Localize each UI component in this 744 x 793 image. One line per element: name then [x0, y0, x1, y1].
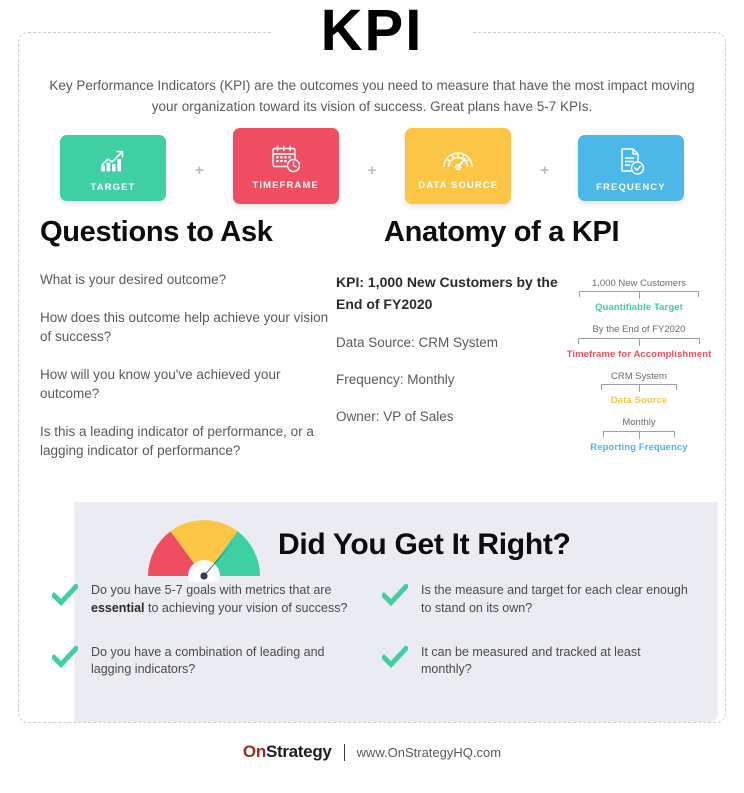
component-card-data-source[interactable]: DATA SOURCE — [405, 128, 511, 204]
bracket-value: CRM System — [555, 371, 723, 382]
component-card-label: FREQUENCY — [596, 182, 666, 193]
anatomy-bracket-group: Monthly Reporting Frequency — [555, 417, 723, 452]
anatomy-line: Data Source: CRM System — [336, 335, 564, 350]
bracket-label: Timeframe for Accomplishment — [555, 349, 723, 360]
footer-divider — [344, 744, 345, 761]
anatomy-bracket-column: 1,000 New Customers Quantifiable Target … — [555, 278, 723, 464]
checklist-item[interactable]: Do you have a combination of leading and… — [52, 644, 382, 680]
component-card-frequency[interactable]: FREQUENCY — [578, 135, 684, 201]
footer: OnStrategy www.OnStrategyHQ.com — [0, 742, 744, 762]
component-card-label: TIMEFRAME — [252, 180, 318, 191]
questions-heading: Questions to Ask — [40, 216, 273, 249]
kpi-components-row: TARGET + — [60, 128, 684, 208]
anatomy-line: Owner: VP of Sales — [336, 409, 564, 424]
checklist-text: Do you have 5-7 goals with metrics that … — [91, 582, 364, 618]
checklist-items: Do you have 5-7 goals with metrics that … — [52, 582, 712, 705]
component-card-target[interactable]: TARGET — [60, 135, 166, 201]
bracket-icon — [578, 338, 700, 347]
plus-separator-3: + — [540, 162, 549, 179]
checklist-text: Do you have a combination of leading and… — [91, 644, 364, 680]
component-card-timeframe[interactable]: TIMEFRAME — [233, 128, 339, 204]
gauge-illustration — [142, 512, 266, 582]
page-title: KPI — [0, 2, 744, 60]
gauge-icon — [441, 143, 475, 175]
checklist-text-after: to achieving your vision of success? — [145, 601, 348, 615]
plus-separator-2: + — [368, 162, 377, 179]
question-item: How does this outcome help achieve your … — [40, 308, 340, 347]
check-icon — [52, 584, 78, 611]
checklist-text-before: It can be measured and tracked at least … — [421, 645, 641, 677]
checklist-heading: Did You Get It Right? — [278, 528, 571, 562]
anatomy-kpi-statement: KPI: 1,000 New Customers by the End of F… — [336, 272, 564, 315]
bracket-value: 1,000 New Customers — [555, 278, 723, 289]
questions-list: What is your desired outcome? How does t… — [40, 270, 340, 479]
calendar-clock-icon — [270, 143, 302, 175]
checklist-text-before: Do you have 5-7 goals with metrics that … — [91, 583, 331, 597]
checklist-item[interactable]: Is the measure and target for each clear… — [382, 582, 712, 618]
anatomy-bracket-group: By the End of FY2020 Timeframe for Accom… — [555, 324, 723, 359]
bracket-value: By the End of FY2020 — [555, 324, 723, 335]
question-item: Is this a leading indicator of performan… — [40, 422, 340, 461]
question-item: What is your desired outcome? — [40, 270, 340, 290]
question-item: How will you know you've achieved your o… — [40, 365, 340, 404]
plus-separator-1: + — [195, 162, 204, 179]
component-card-label: TARGET — [91, 182, 136, 193]
bracket-icon — [579, 291, 699, 300]
anatomy-heading: Anatomy of a KPI — [384, 216, 619, 249]
intro-paragraph: Key Performance Indicators (KPI) are the… — [42, 76, 702, 118]
brand-logo-strategy: Strategy — [266, 742, 332, 761]
checklist-text-bold: essential — [91, 601, 145, 615]
document-check-icon — [617, 145, 645, 177]
bracket-value: Monthly — [555, 417, 723, 428]
component-card-label: DATA SOURCE — [418, 180, 498, 191]
bar-chart-growth-icon — [98, 145, 128, 177]
bracket-icon — [603, 431, 675, 440]
check-icon — [52, 646, 78, 673]
checklist-text-before: Do you have a combination of leading and… — [91, 645, 325, 677]
footer-website: www.OnStrategyHQ.com — [357, 745, 502, 760]
checklist-text-before: Is the measure and target for each clear… — [421, 583, 688, 615]
bracket-icon — [601, 384, 677, 393]
anatomy-bracket-group: CRM System Data Source — [555, 371, 723, 406]
anatomy-line: Frequency: Monthly — [336, 372, 564, 387]
bracket-label: Data Source — [555, 395, 723, 406]
brand-logo[interactable]: OnStrategy — [243, 742, 332, 762]
bracket-label: Quantifiable Target — [555, 302, 723, 313]
anatomy-bracket-group: 1,000 New Customers Quantifiable Target — [555, 278, 723, 313]
checklist-item[interactable]: Do you have 5-7 goals with metrics that … — [52, 582, 382, 618]
bracket-label: Reporting Frequency — [555, 442, 723, 453]
checklist-text: It can be measured and tracked at least … — [421, 644, 694, 680]
check-icon — [382, 646, 408, 673]
checklist-text: Is the measure and target for each clear… — [421, 582, 694, 618]
brand-logo-on: On — [243, 742, 266, 761]
check-icon — [382, 584, 408, 611]
checklist-item[interactable]: It can be measured and tracked at least … — [382, 644, 712, 680]
anatomy-example: KPI: 1,000 New Customers by the End of F… — [336, 272, 564, 446]
